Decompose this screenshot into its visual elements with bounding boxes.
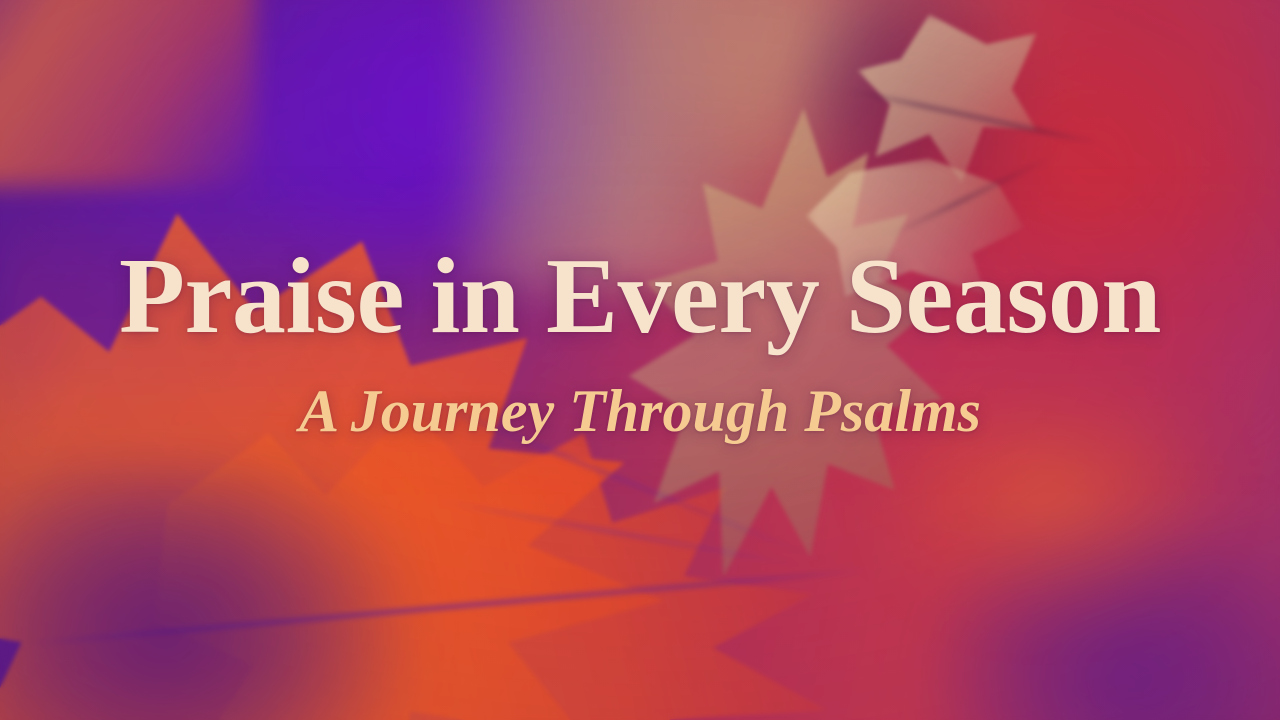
title-text-group: Praise in Every Season A Journey Through… [0, 0, 1280, 720]
page-title: Praise in Every Season [119, 243, 1161, 351]
page-subtitle: A Journey Through Psalms [299, 381, 981, 441]
title-card-slide: Praise in Every Season A Journey Through… [0, 0, 1280, 720]
